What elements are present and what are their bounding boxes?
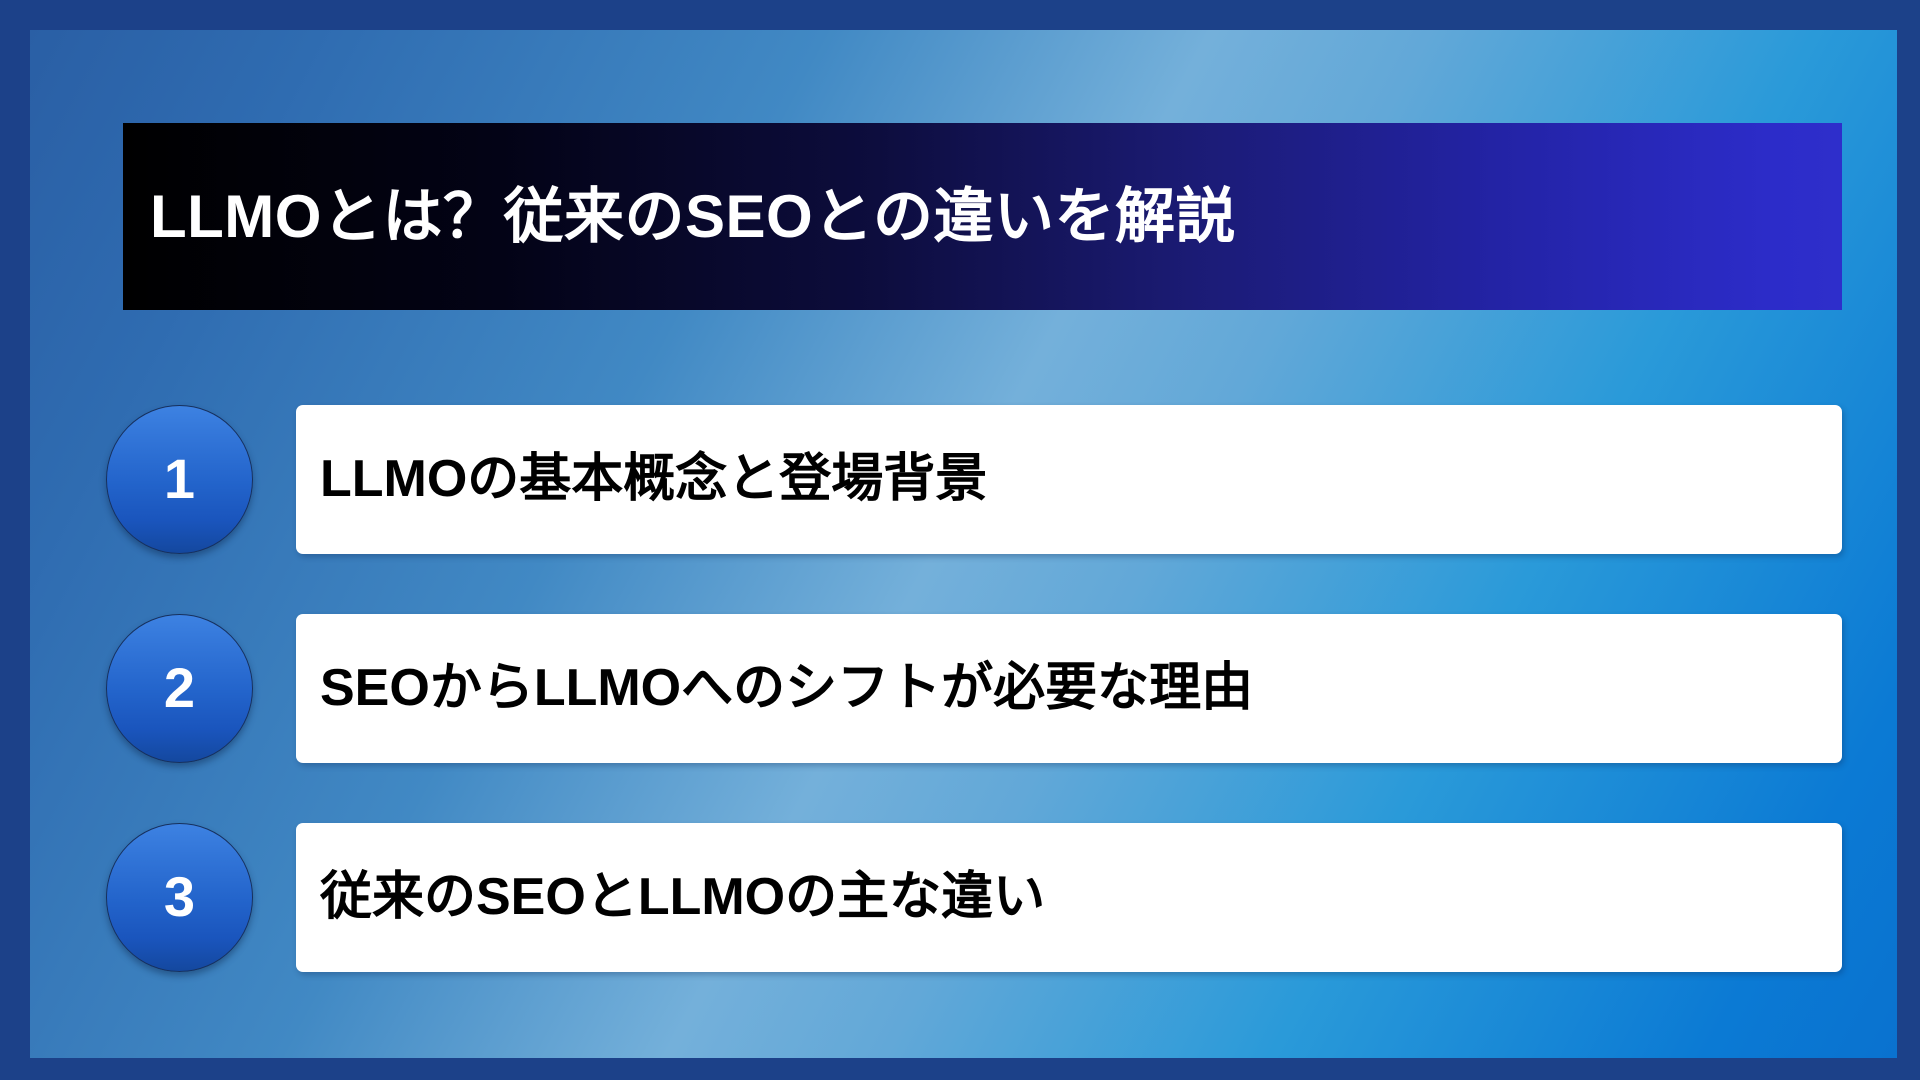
agenda-card-2[interactable]: SEOからLLMOへのシフトが必要な理由 xyxy=(296,614,1842,763)
agenda-list: 1 LLMOの基本概念と登場背景 2 SEOからLLMOへのシフトが必要な理由 … xyxy=(30,405,1920,1032)
agenda-label-3: 従来のSEOとLLMOの主な違い xyxy=(320,868,1045,928)
agenda-card-1[interactable]: LLMOの基本概念と登場背景 xyxy=(296,405,1842,554)
agenda-number-3: 3 xyxy=(164,869,195,925)
slide-title-bar: LLMOとは？従来のSEOとの違いを解説 xyxy=(123,123,1842,310)
agenda-number-badge-2: 2 xyxy=(106,614,253,763)
agenda-label-1: LLMOの基本概念と登場背景 xyxy=(320,450,987,510)
agenda-card-3[interactable]: 従来のSEOとLLMOの主な違い xyxy=(296,823,1842,972)
page-title: LLMOとは？従来のSEOとの違いを解説 xyxy=(150,184,1236,250)
slide-background-panel: LLMOとは？従来のSEOとの違いを解説 1 LLMOの基本概念と登場背景 2 … xyxy=(30,30,1897,1058)
slide-root: LLMOとは？従来のSEOとの違いを解説 1 LLMOの基本概念と登場背景 2 … xyxy=(0,0,1920,1080)
agenda-item-3[interactable]: 3 従来のSEOとLLMOの主な違い xyxy=(30,823,1920,973)
agenda-number-badge-3: 3 xyxy=(106,823,253,972)
agenda-label-2: SEOからLLMOへのシフトが必要な理由 xyxy=(320,659,1253,719)
agenda-number-2: 2 xyxy=(164,660,195,716)
agenda-item-1[interactable]: 1 LLMOの基本概念と登場背景 xyxy=(30,405,1920,555)
agenda-number-1: 1 xyxy=(164,451,195,507)
agenda-item-2[interactable]: 2 SEOからLLMOへのシフトが必要な理由 xyxy=(30,614,1920,764)
agenda-number-badge-1: 1 xyxy=(106,405,253,554)
